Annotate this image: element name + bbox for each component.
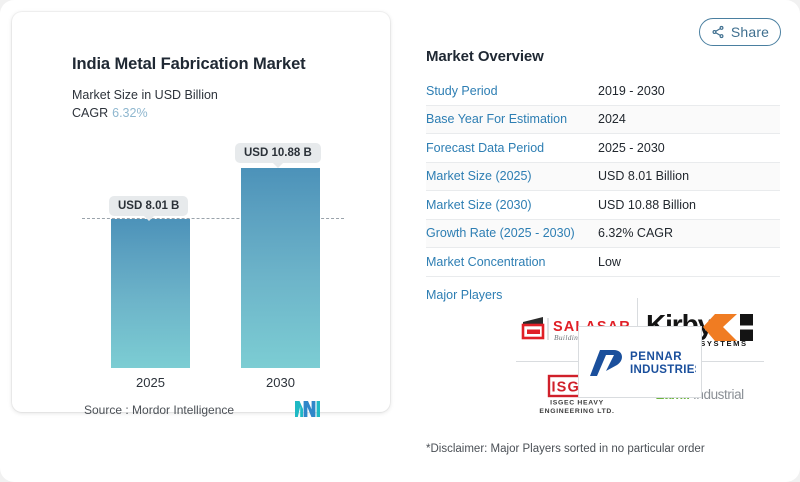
row-value: USD 8.01 Billion bbox=[598, 169, 689, 183]
cagr-value: 6.32% bbox=[112, 106, 147, 120]
svg-text:PENNAR: PENNAR bbox=[630, 351, 682, 363]
row-label: Growth Rate (2025 - 2030) bbox=[426, 226, 598, 240]
x-axis-tick-2025: 2025 bbox=[111, 375, 190, 390]
share-button[interactable]: Share bbox=[699, 18, 781, 46]
row-value: 2019 - 2030 bbox=[598, 84, 665, 98]
row-label: Study Period bbox=[426, 84, 598, 98]
player-logo-pennar: PENNAR INDUSTRIES bbox=[578, 326, 702, 398]
row-label: Market Size (2030) bbox=[426, 198, 598, 212]
row-value: USD 10.88 Billion bbox=[598, 198, 696, 212]
svg-text:INDUSTRIES: INDUSTRIES bbox=[630, 364, 696, 376]
disclaimer-text: *Disclaimer: Major Players sorted in no … bbox=[426, 443, 705, 455]
svg-text:ENGINEERING LTD.: ENGINEERING LTD. bbox=[539, 408, 614, 415]
market-snapshot-page: Share India Metal Fabrication Market Mar… bbox=[0, 0, 800, 482]
row-label: Base Year For Estimation bbox=[426, 112, 598, 126]
chart-cagr: CAGR6.32% bbox=[72, 106, 148, 120]
share-nodes-icon bbox=[711, 25, 725, 39]
row-label: Market Size (2025) bbox=[426, 169, 598, 183]
table-row: Forecast Data Period 2025 - 2030 bbox=[426, 134, 780, 163]
row-label: Market Concentration bbox=[426, 255, 598, 269]
table-row: Market Size (2025) USD 8.01 Billion bbox=[426, 163, 780, 192]
row-label: Forecast Data Period bbox=[426, 141, 598, 155]
chart-subtitle: Market Size in USD Billion bbox=[72, 88, 218, 102]
table-row: Growth Rate (2025 - 2030) 6.32% CAGR bbox=[426, 220, 780, 249]
market-overview-panel: Market Overview Study Period 2019 - 2030… bbox=[426, 48, 780, 302]
table-row: Base Year For Estimation 2024 bbox=[426, 106, 780, 135]
bar-2030 bbox=[241, 168, 320, 368]
chart-card: India Metal Fabrication Market Market Si… bbox=[12, 12, 390, 412]
row-value: 6.32% CAGR bbox=[598, 226, 673, 240]
table-row: Market Size (2030) USD 10.88 Billion bbox=[426, 191, 780, 220]
x-axis-tick-2030: 2030 bbox=[241, 375, 320, 390]
bar-2025 bbox=[111, 219, 190, 368]
cagr-label: CAGR bbox=[72, 106, 108, 120]
share-button-label: Share bbox=[731, 24, 769, 40]
row-value: 2025 - 2030 bbox=[598, 141, 665, 155]
bar-value-label-2030: USD 10.88 B bbox=[235, 143, 321, 163]
chart-title: India Metal Fabrication Market bbox=[72, 55, 306, 74]
bar-value-label-2025: USD 8.01 B bbox=[109, 196, 188, 216]
market-overview-title: Market Overview bbox=[426, 48, 780, 65]
row-value: 2024 bbox=[598, 112, 626, 126]
svg-text:ISGEC HEAVY: ISGEC HEAVY bbox=[550, 399, 604, 406]
table-row: Study Period 2019 - 2030 bbox=[426, 77, 780, 106]
table-row: Market Concentration Low bbox=[426, 248, 780, 277]
source-label: Source : Mordor Intelligence bbox=[84, 403, 234, 417]
row-value: Low bbox=[598, 255, 621, 269]
mordor-intelligence-logo bbox=[295, 399, 323, 418]
major-players-logos: SALASAR Building a stronger future Kirby… bbox=[516, 298, 764, 426]
